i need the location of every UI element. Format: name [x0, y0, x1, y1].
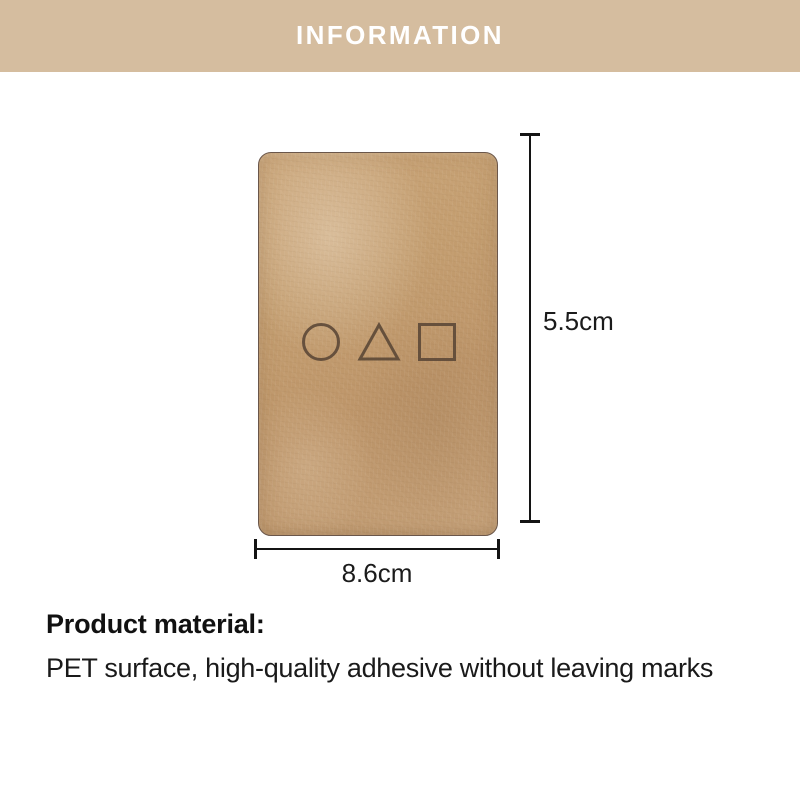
triangle-icon: [357, 322, 401, 362]
dimension-cap-right: [497, 539, 500, 559]
dimension-cap-bottom: [520, 520, 540, 523]
height-dimension-label: 5.5cm: [543, 308, 614, 334]
height-dimension-line: [529, 133, 531, 523]
product-image-stage: 5.5cm 8.6cm: [0, 72, 800, 600]
dimension-cap-left: [254, 539, 257, 559]
page-title: INFORMATION: [296, 22, 504, 50]
product-card-image: [258, 152, 498, 536]
circle-icon: [302, 323, 340, 361]
width-dimension-line: [254, 548, 500, 550]
product-description: Product material: PET surface, high-qual…: [46, 608, 756, 689]
square-icon: [418, 323, 456, 361]
information-banner: INFORMATION: [0, 0, 800, 72]
width-dimension-label: 8.6cm: [254, 560, 500, 586]
product-material-text: PET surface, high-quality adhesive witho…: [46, 648, 746, 689]
dimension-cap-top: [520, 133, 540, 136]
product-material-heading: Product material:: [46, 608, 756, 642]
printed-shape-row: [259, 319, 498, 365]
